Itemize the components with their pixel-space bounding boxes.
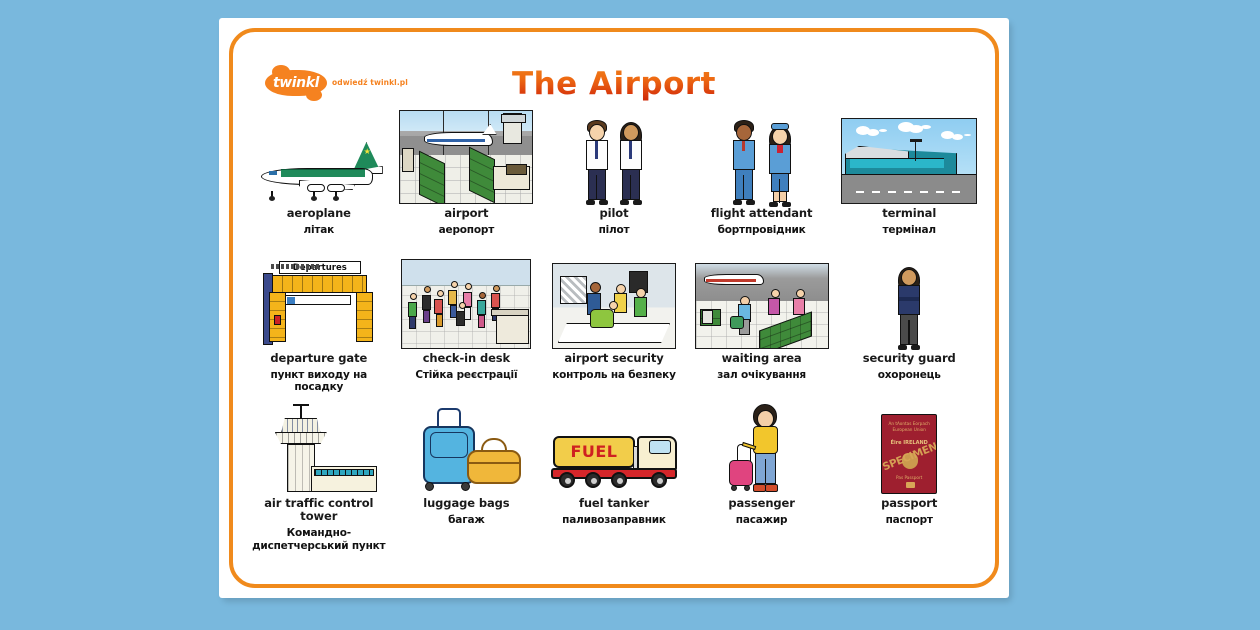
control-tower-illustration	[248, 396, 390, 494]
vocab-en-label: security guard	[863, 352, 956, 365]
passenger-illustration	[691, 396, 833, 494]
flight-attendant-illustration	[691, 106, 833, 204]
vocab-card-luggage-bags: luggage bags багаж	[393, 396, 541, 561]
vocab-card-control-tower: air traffic control tower Командно-диспе…	[245, 396, 393, 561]
vocab-card-departure-gate: Departures departure gate пункт виходу н…	[245, 251, 393, 396]
vocab-en-label: luggage bags	[423, 497, 509, 510]
vocab-en-label: fuel tanker	[579, 497, 649, 510]
vocab-card-aeroplane: ★ aeroplane літак	[245, 106, 393, 251]
vocab-en-label: passenger	[728, 497, 794, 510]
vocabulary-grid: ★ aeroplane літак	[245, 106, 983, 561]
security-guard-illustration	[838, 251, 980, 349]
vocab-uk-label: контроль на безпеку	[552, 369, 676, 381]
vocab-uk-label: пілот	[599, 224, 630, 236]
word-mat: twinkl odwiedź twinkl.pl The Airport ★	[219, 18, 1009, 598]
vocab-uk-label: зал очікування	[717, 369, 806, 381]
passport-chip-icon	[906, 482, 915, 488]
vocab-uk-label: багаж	[448, 514, 484, 526]
aeroplane-illustration: ★	[248, 106, 390, 204]
passport-footer-text: Pas Passport	[886, 475, 932, 480]
vocab-card-pilot: pilot пілот	[540, 106, 688, 251]
airport-security-illustration	[543, 251, 685, 349]
vocab-uk-label: паливозаправник	[562, 514, 666, 526]
twinkl-logo-text: twinkl	[273, 75, 319, 91]
vocab-en-label: pilot	[599, 207, 628, 220]
vocab-en-label: passport	[881, 497, 937, 510]
check-in-desk-illustration	[396, 251, 538, 349]
passport-illustration: An tAontas Eorpach European Union Éire I…	[838, 396, 980, 494]
vocab-card-passport: An tAontas Eorpach European Union Éire I…	[835, 396, 983, 561]
vocab-uk-label: бортпровідник	[718, 224, 806, 236]
vocab-uk-label: термінал	[883, 224, 936, 236]
vocab-uk-label: Командно-диспетчерський пункт	[248, 527, 390, 552]
airport-interior-illustration	[396, 106, 538, 204]
departure-gate-illustration: Departures	[248, 251, 390, 349]
waiting-area-illustration	[691, 251, 833, 349]
passport-header-text: An tAontas Eorpach European Union	[888, 421, 930, 432]
vocab-en-label: waiting area	[722, 352, 802, 365]
vocab-card-airport: airport аеропорт	[393, 106, 541, 251]
pilot-illustration	[543, 106, 685, 204]
vocab-card-waiting-area: waiting area зал очікування	[688, 251, 836, 396]
vocab-uk-label: літак	[304, 224, 335, 236]
vocab-uk-label: охоронець	[878, 369, 941, 381]
vocab-card-passenger: passenger пасажир	[688, 396, 836, 561]
vocab-en-label: airport security	[564, 352, 663, 365]
vocab-card-fuel-tanker: FUEL fuel tanker паливозаправник	[540, 396, 688, 561]
vocab-en-label: flight attendant	[711, 207, 813, 220]
vocab-card-terminal: terminal термінал	[835, 106, 983, 251]
vocab-uk-label: аеропорт	[439, 224, 494, 236]
vocab-en-label: departure gate	[270, 352, 367, 365]
fuel-tanker-illustration: FUEL	[543, 396, 685, 494]
luggage-bags-illustration	[396, 396, 538, 494]
vocab-en-label: air traffic control tower	[248, 497, 390, 523]
vocab-uk-label: пункт виходу на посадку	[248, 369, 390, 394]
terminal-building-illustration	[838, 106, 980, 204]
vocab-en-label: check-in desk	[423, 352, 510, 365]
vocab-en-label: airport	[444, 207, 488, 220]
vocab-uk-label: паспорт	[886, 514, 933, 526]
fuel-label-text: FUEL	[563, 442, 625, 461]
vocab-card-flight-attendant: flight attendant бортпровідник	[688, 106, 836, 251]
page-title: The Airport	[219, 66, 1009, 102]
worksheet-page: twinkl odwiedź twinkl.pl The Airport ★	[0, 0, 1260, 630]
vocab-en-label: aeroplane	[287, 207, 351, 220]
vocab-uk-label: пасажир	[736, 514, 788, 526]
vocab-card-security-guard: security guard охоронець	[835, 251, 983, 396]
vocab-card-airport-security: airport security контроль на безпеку	[540, 251, 688, 396]
vocab-uk-label: Стійка реєстрації	[415, 369, 517, 381]
vocab-en-label: terminal	[882, 207, 936, 220]
vocab-card-check-in-desk: check-in desk Стійка реєстрації	[393, 251, 541, 396]
